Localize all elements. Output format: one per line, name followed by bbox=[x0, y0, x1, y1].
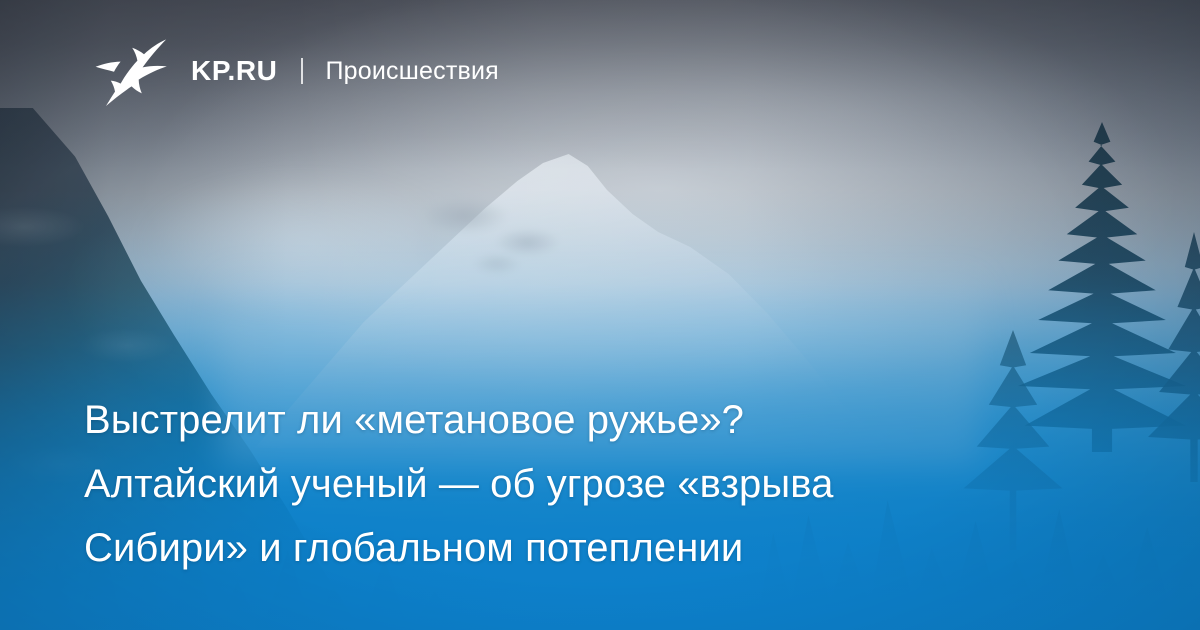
brand-name[interactable]: KP.RU bbox=[191, 57, 278, 85]
site-header: KP.RU Происшествия bbox=[95, 36, 499, 106]
headline-line-3: Сибири» и глобальном потеплении bbox=[84, 516, 1094, 580]
social-share-card: KP.RU Происшествия Выстрелит ли «метанов… bbox=[0, 0, 1200, 630]
swallow-bird-logo-icon[interactable] bbox=[95, 36, 167, 106]
brand-separator bbox=[301, 58, 303, 84]
brand-block: KP.RU Происшествия bbox=[191, 57, 499, 85]
headline-line-1: Выстрелит ли «метановое ружье»? bbox=[84, 388, 1094, 452]
headline: Выстрелит ли «метановое ружье»? Алтайски… bbox=[84, 388, 1094, 580]
headline-line-2: Алтайский ученый — об угрозе «взрыва bbox=[84, 452, 1094, 516]
section-name[interactable]: Происшествия bbox=[326, 59, 499, 84]
